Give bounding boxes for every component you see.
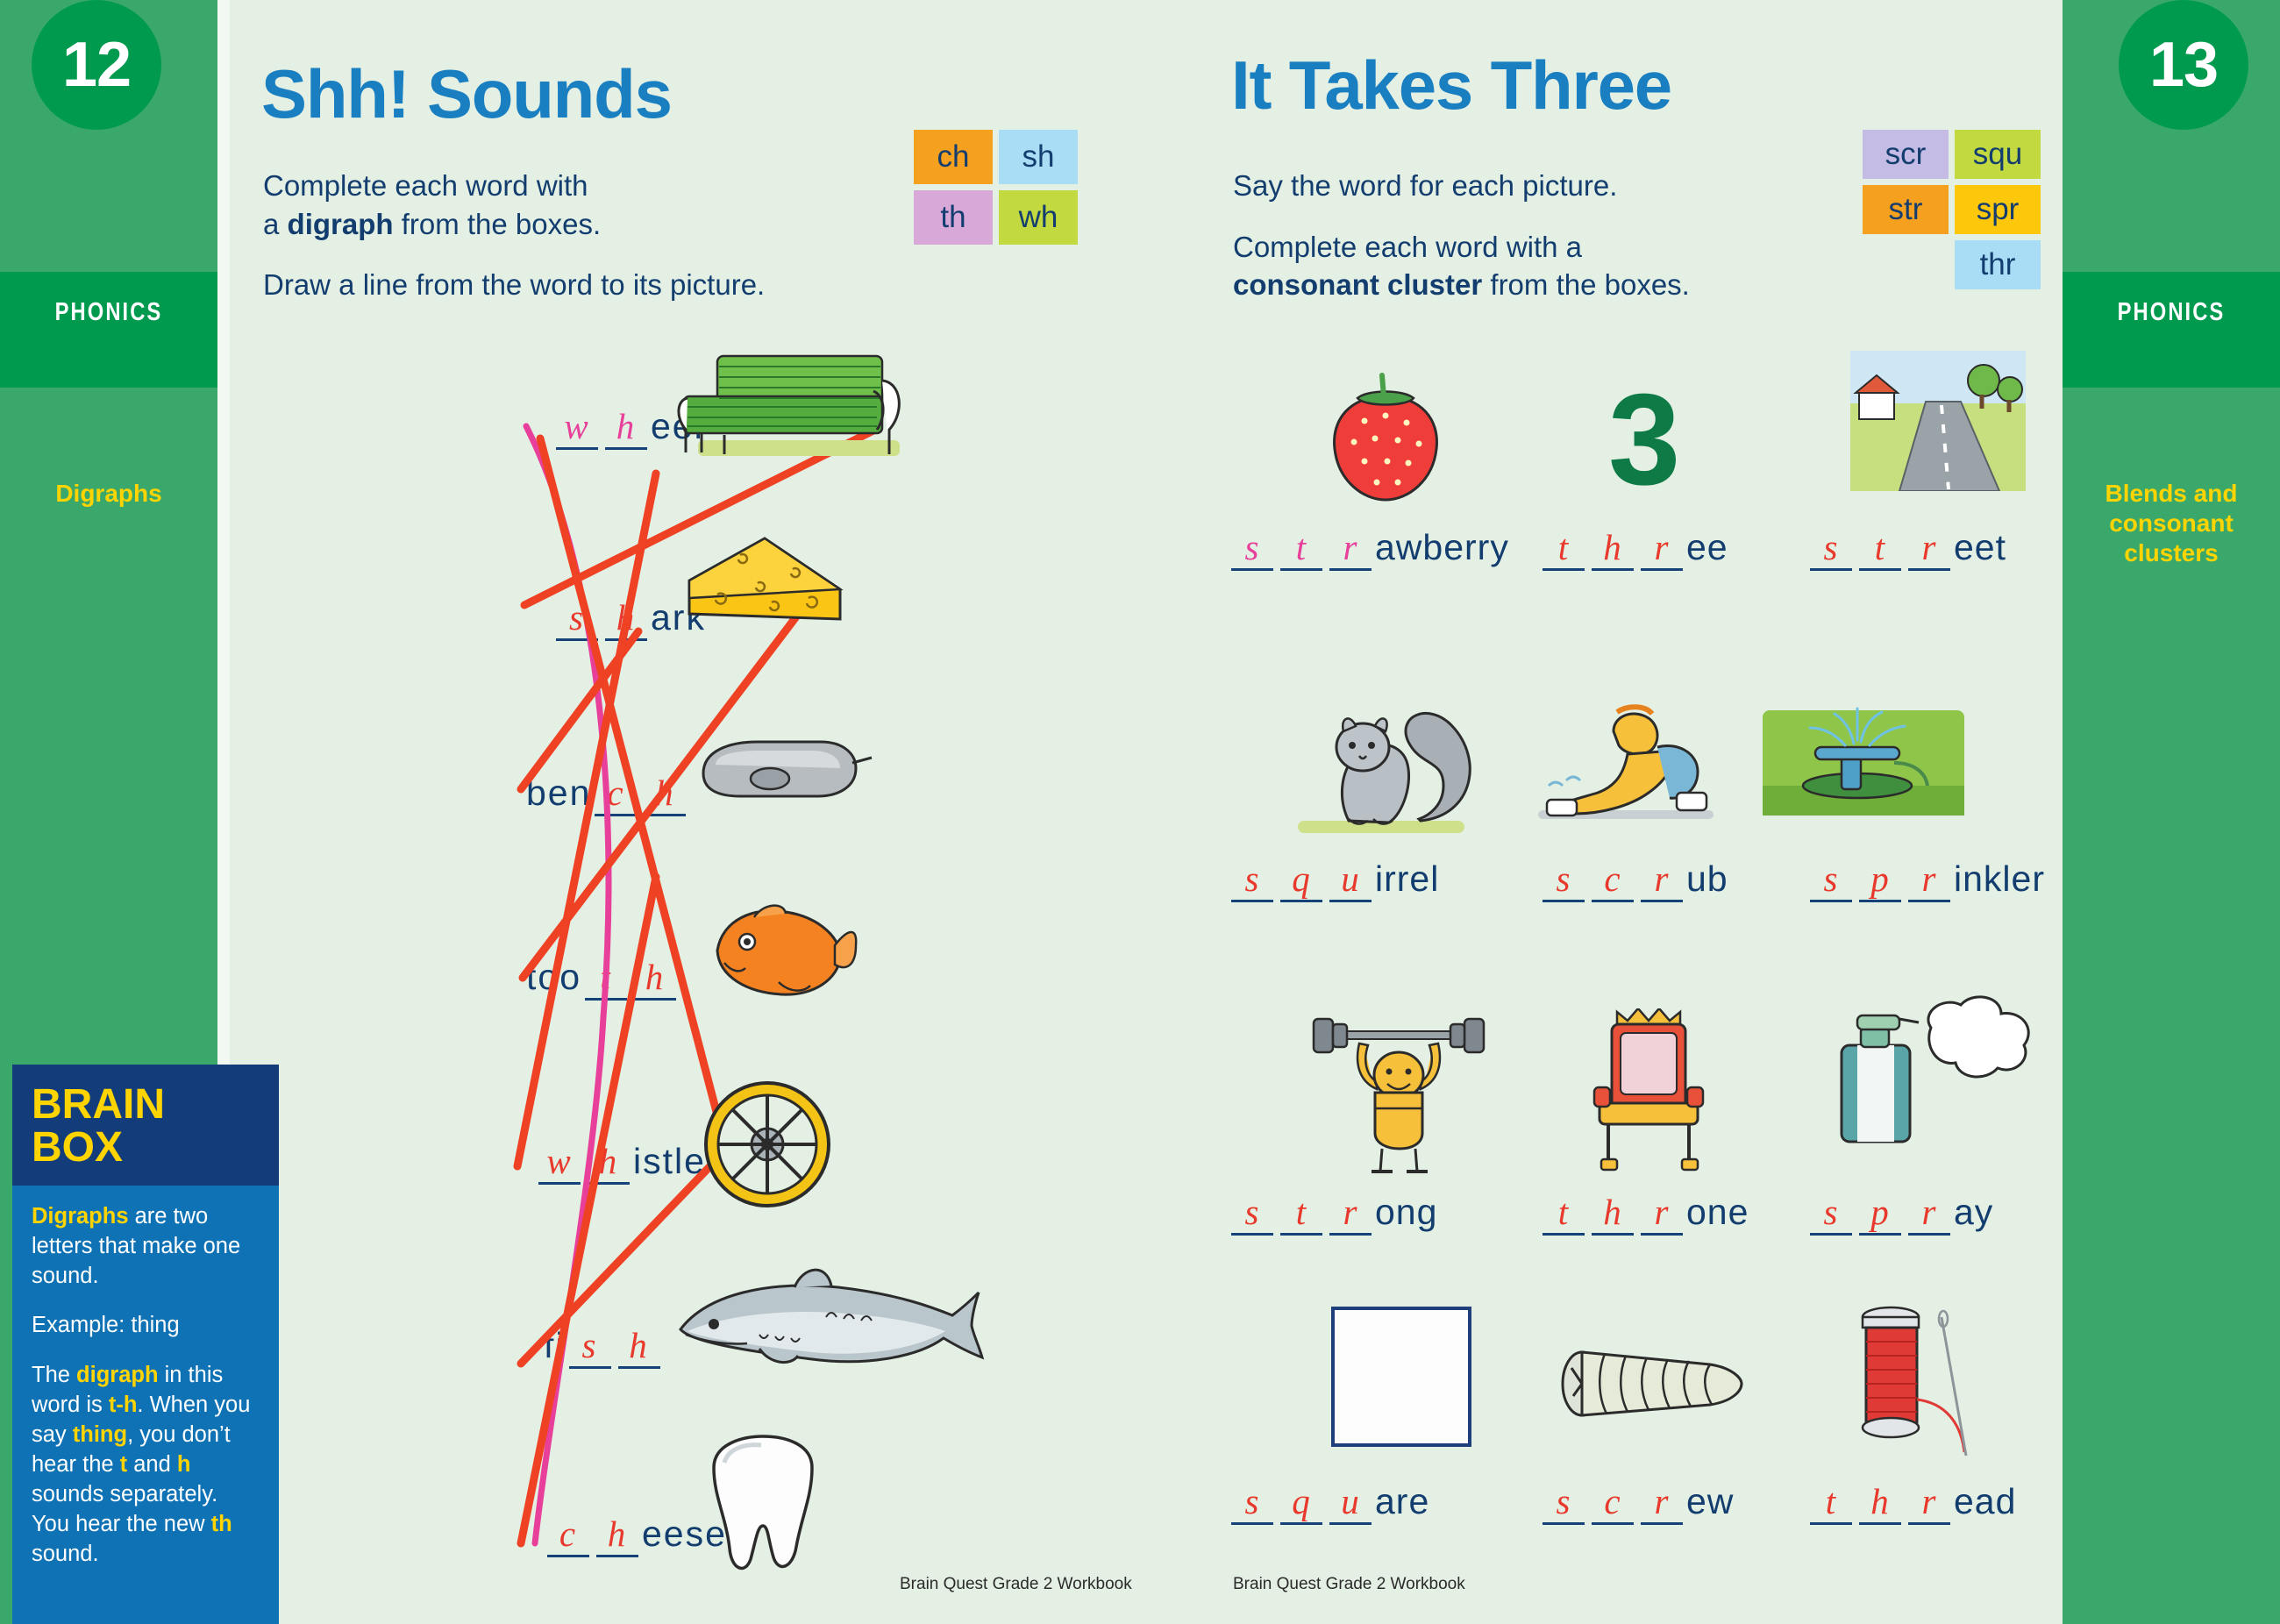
brain-box-title-line1: BRAIN — [32, 1084, 260, 1127]
cluster-blank-1[interactable]: s — [1543, 858, 1585, 902]
cluster-blank-3[interactable]: r — [1641, 858, 1683, 902]
square-illustration — [1322, 1298, 1480, 1456]
cluster-blank-1[interactable]: s — [1543, 1480, 1585, 1525]
cluster-word-suffix: ay — [1954, 1192, 1993, 1232]
cluster-word-row[interactable]: throne — [1539, 1191, 1749, 1236]
cluster-blank-3[interactable]: r — [1641, 526, 1683, 571]
cluster-word-suffix: ong — [1375, 1192, 1437, 1232]
brain-box: BRAIN BOX Digraphs are two letters that … — [12, 1065, 279, 1624]
cluster-box-thr[interactable]: thr — [1955, 240, 2041, 289]
right-instruction-line-1: Say the word for each picture. — [1233, 167, 1794, 205]
right-page-footer: Brain Quest Grade 2 Workbook — [1233, 1575, 1465, 1594]
cluster-blank-2[interactable]: h — [1859, 1480, 1901, 1525]
cluster-blank-2[interactable]: p — [1859, 858, 1901, 902]
cluster-word-suffix: ew — [1686, 1481, 1734, 1521]
right-rail-subject-band — [2063, 272, 2280, 388]
tooth-illustration — [693, 1429, 833, 1587]
cluster-word-suffix: inkler — [1954, 858, 2045, 899]
cluster-blank-2[interactable]: q — [1280, 1480, 1322, 1525]
wheel-illustration — [693, 1070, 842, 1219]
brain-box-paragraph-2: Example: thing — [32, 1310, 260, 1340]
strawberry-illustration — [1315, 368, 1456, 509]
squirrel-illustration — [1289, 702, 1491, 842]
right-page-number: 13 — [2119, 0, 2248, 130]
cluster-blank-1[interactable]: s — [1810, 858, 1852, 902]
left-rail-topic-label: Digraphs — [0, 479, 217, 509]
cluster-blank-1[interactable]: t — [1810, 1480, 1852, 1525]
cluster-blank-3[interactable]: r — [1329, 526, 1372, 571]
left-rail-subject-label: PHONICS — [19, 298, 197, 327]
cluster-blank-2[interactable]: t — [1280, 526, 1322, 571]
cluster-word-suffix: irrel — [1375, 858, 1439, 899]
cluster-blank-2[interactable]: h — [1592, 1191, 1634, 1236]
cluster-blank-3[interactable]: r — [1908, 1480, 1950, 1525]
left-rail-subject-band — [0, 272, 217, 388]
cluster-word-suffix: awberry — [1375, 527, 1509, 567]
cluster-blank-1[interactable]: s — [1231, 858, 1273, 902]
cluster-blank-2[interactable]: t — [1859, 526, 1901, 571]
thread-spool-illustration — [1833, 1298, 2017, 1482]
cluster-blank-3[interactable]: r — [1641, 1480, 1683, 1525]
cluster-blank-2[interactable]: h — [1592, 526, 1634, 571]
cluster-box-grid: scrsqustrsprthr — [1863, 130, 2041, 289]
cluster-word-suffix: eet — [1954, 527, 2006, 567]
cluster-word-row[interactable]: sprinkler — [1806, 858, 2045, 902]
goldfish-illustration — [702, 894, 859, 1017]
cluster-box-spr[interactable]: spr — [1955, 185, 2041, 234]
right-rail: 13 PHONICS Blends and consonant clusters — [2063, 0, 2280, 1624]
cluster-blank-3[interactable]: r — [1908, 526, 1950, 571]
cluster-blank-2[interactable]: c — [1592, 858, 1634, 902]
brain-box-title-line2: BOX — [32, 1127, 260, 1170]
cluster-blank-2[interactable]: t — [1280, 1191, 1322, 1236]
cluster-word-suffix: ead — [1954, 1481, 2016, 1521]
right-instruction-line-3: consonant cluster from the boxes. — [1233, 266, 1794, 304]
street-illustration — [1850, 351, 2026, 491]
cluster-word-row[interactable]: screw — [1539, 1480, 1734, 1525]
cluster-blank-3[interactable]: r — [1908, 858, 1950, 902]
cluster-word-suffix: one — [1686, 1192, 1749, 1232]
right-instruction-line-2: Complete each word with a — [1233, 228, 1794, 267]
cluster-box-str[interactable]: str — [1863, 185, 1949, 234]
cheese-illustration — [677, 526, 852, 649]
brain-box-paragraph-3: The digraph in this word is t-h. When yo… — [32, 1360, 260, 1570]
scrub-illustration — [1526, 702, 1728, 833]
cluster-word-suffix: are — [1375, 1481, 1429, 1521]
cluster-blank-1[interactable]: t — [1543, 526, 1585, 571]
cluster-blank-3[interactable]: u — [1329, 858, 1372, 902]
cluster-word-row[interactable]: thread — [1806, 1480, 2016, 1525]
sprinkler-illustration — [1763, 702, 1964, 833]
right-rail-subject-label: PHONICS — [2082, 298, 2260, 327]
right-rail-topic-label: Blends and consonant clusters — [2063, 479, 2280, 568]
cluster-blank-2[interactable]: q — [1280, 858, 1322, 902]
cluster-blank-1[interactable]: s — [1231, 1480, 1273, 1525]
left-page-footer: Brain Quest Grade 2 Workbook — [900, 1575, 1132, 1594]
left-page-number: 12 — [32, 0, 161, 130]
cluster-blank-2[interactable]: p — [1859, 1191, 1901, 1236]
bench-illustration — [666, 342, 930, 474]
brain-box-header: BRAIN BOX — [12, 1065, 279, 1186]
shark-illustration — [672, 1254, 987, 1385]
cluster-word-row[interactable]: strong — [1228, 1191, 1437, 1236]
cluster-blank-1[interactable]: s — [1231, 526, 1273, 571]
cluster-blank-1[interactable]: s — [1810, 1191, 1852, 1236]
cluster-blank-1[interactable]: t — [1543, 1191, 1585, 1236]
brain-box-body: Digraphs are two letters that make one s… — [12, 1186, 279, 1589]
cluster-blank-3[interactable]: u — [1329, 1480, 1372, 1525]
cluster-word-row[interactable]: square — [1228, 1480, 1429, 1525]
spray-can-illustration — [1815, 991, 2043, 1166]
cluster-word-row[interactable]: squirrel — [1228, 858, 1439, 902]
cluster-word-row[interactable]: scrub — [1539, 858, 1728, 902]
cluster-blank-1[interactable]: s — [1810, 526, 1852, 571]
cluster-word-row[interactable]: strawberry — [1228, 526, 1509, 571]
cluster-word-row[interactable]: three — [1539, 526, 1728, 571]
screw-illustration — [1552, 1333, 1754, 1438]
right-page-title: It Takes Three — [1231, 46, 1671, 125]
whistle-illustration — [689, 728, 873, 824]
cluster-word-suffix: ub — [1686, 858, 1728, 899]
cluster-word-row[interactable]: street — [1806, 526, 2006, 571]
cluster-blank-2[interactable]: c — [1592, 1480, 1634, 1525]
cluster-word-row[interactable]: spray — [1806, 1191, 1993, 1236]
numeral-three: 3 — [1608, 375, 1680, 505]
throne-illustration — [1570, 1008, 1728, 1175]
strongman-illustration — [1307, 1017, 1491, 1175]
cluster-blank-3[interactable]: r — [1908, 1191, 1950, 1236]
cluster-blank-3[interactable]: r — [1329, 1191, 1372, 1236]
cluster-blank-3[interactable]: r — [1641, 1191, 1683, 1236]
right-page-instructions: Say the word for each picture. Complete … — [1233, 167, 1794, 304]
cluster-blank-1[interactable]: s — [1231, 1191, 1273, 1236]
brain-box-paragraph-1: Digraphs are two letters that make one s… — [32, 1201, 260, 1291]
cluster-box-squ[interactable]: squ — [1955, 130, 2041, 179]
workbook-spread: 12 PHONICS Digraphs 13 PHONICS Blends an… — [0, 0, 2280, 1624]
cluster-word-suffix: ee — [1686, 527, 1728, 567]
cluster-box-scr[interactable]: scr — [1863, 130, 1949, 179]
